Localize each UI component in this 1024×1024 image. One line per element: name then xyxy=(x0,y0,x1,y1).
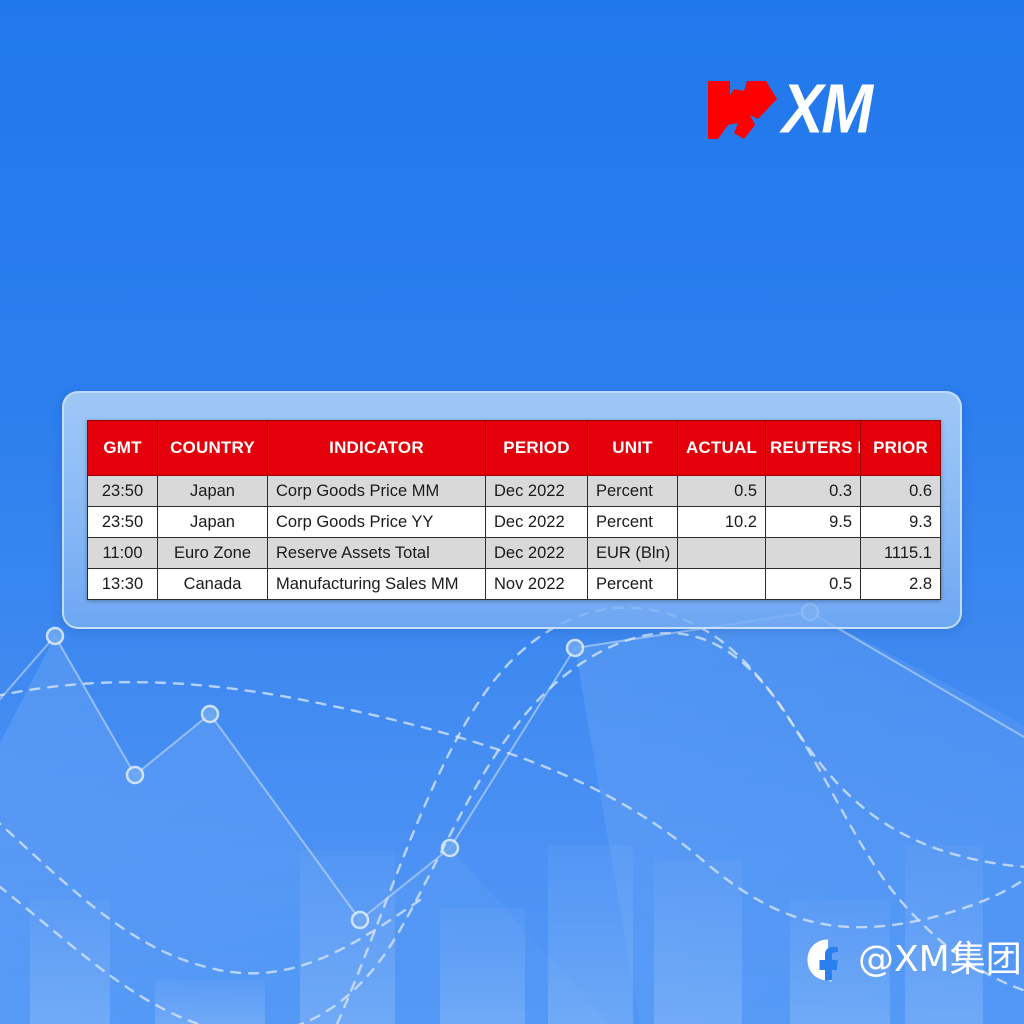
cell-gmt: 23:50 xyxy=(88,507,158,538)
cell-indicator: Corp Goods Price MM xyxy=(268,476,486,507)
cell-country: Japan xyxy=(158,507,268,538)
cell-prior: 0.6 xyxy=(861,476,941,507)
cell-prior: 9.3 xyxy=(861,507,941,538)
cell-indicator: Manufacturing Sales MM xyxy=(268,569,486,600)
column-header-period: PERIOD xyxy=(486,421,588,476)
social-watermark: @XM集团 xyxy=(806,930,1022,990)
table-row: 13:30 Canada Manufacturing Sales MM Nov … xyxy=(88,569,941,600)
cell-gmt: 13:30 xyxy=(88,569,158,600)
cell-country: Canada xyxy=(158,569,268,600)
cell-prior: 2.8 xyxy=(861,569,941,600)
xm-logo: XM xyxy=(700,74,940,146)
cell-reuters-poll: 9.5 xyxy=(766,507,861,538)
column-header-unit: UNIT xyxy=(588,421,678,476)
background-line-nodes xyxy=(47,604,818,928)
table-row: 23:50 Japan Corp Goods Price MM Dec 2022… xyxy=(88,476,941,507)
cell-prior: 1115.1 xyxy=(861,538,941,569)
xm-wordmark: XM xyxy=(782,75,871,144)
cell-period: Dec 2022 xyxy=(486,507,588,538)
table-row: 23:50 Japan Corp Goods Price YY Dec 2022… xyxy=(88,507,941,538)
economic-calendar-panel: GMT COUNTRY INDICATOR PERIOD UNIT ACTUAL… xyxy=(62,391,962,629)
cell-gmt: 11:00 xyxy=(88,538,158,569)
column-header-country: COUNTRY xyxy=(158,421,268,476)
background-line-chart xyxy=(0,612,1024,920)
cell-unit: Percent xyxy=(588,569,678,600)
column-header-actual: ACTUAL xyxy=(678,421,766,476)
cell-reuters-poll: 0.3 xyxy=(766,476,861,507)
poster-canvas: XM GMT COUNTRY INDICATOR PERIOD UNIT ACT… xyxy=(0,0,1024,1024)
cell-unit: Percent xyxy=(588,476,678,507)
cell-reuters-poll: 0.5 xyxy=(766,569,861,600)
cell-actual xyxy=(678,569,766,600)
column-header-prior: PRIOR xyxy=(861,421,941,476)
cell-reuters-poll xyxy=(766,538,861,569)
cell-period: Nov 2022 xyxy=(486,569,588,600)
column-header-gmt: GMT xyxy=(88,421,158,476)
cell-actual: 10.2 xyxy=(678,507,766,538)
social-handle: @XM集团 xyxy=(858,942,1022,978)
table-row: 11:00 Euro Zone Reserve Assets Total Dec… xyxy=(88,538,941,569)
column-header-reuters-poll: REUTERS POLL xyxy=(766,421,861,476)
column-header-indicator: INDICATOR xyxy=(268,421,486,476)
cell-country: Euro Zone xyxy=(158,538,268,569)
cell-unit: Percent xyxy=(588,507,678,538)
cell-indicator: Reserve Assets Total xyxy=(268,538,486,569)
table-header-row: GMT COUNTRY INDICATOR PERIOD UNIT ACTUAL… xyxy=(88,421,941,476)
cell-indicator: Corp Goods Price YY xyxy=(268,507,486,538)
cell-actual: 0.5 xyxy=(678,476,766,507)
cell-gmt: 23:50 xyxy=(88,476,158,507)
facebook-icon xyxy=(806,938,850,982)
xm-bull-mark-icon xyxy=(700,75,778,145)
cell-period: Dec 2022 xyxy=(486,476,588,507)
cell-country: Japan xyxy=(158,476,268,507)
cell-period: Dec 2022 xyxy=(486,538,588,569)
cell-actual xyxy=(678,538,766,569)
cell-unit: EUR (Bln) xyxy=(588,538,678,569)
economic-calendar-table: GMT COUNTRY INDICATOR PERIOD UNIT ACTUAL… xyxy=(87,420,941,600)
